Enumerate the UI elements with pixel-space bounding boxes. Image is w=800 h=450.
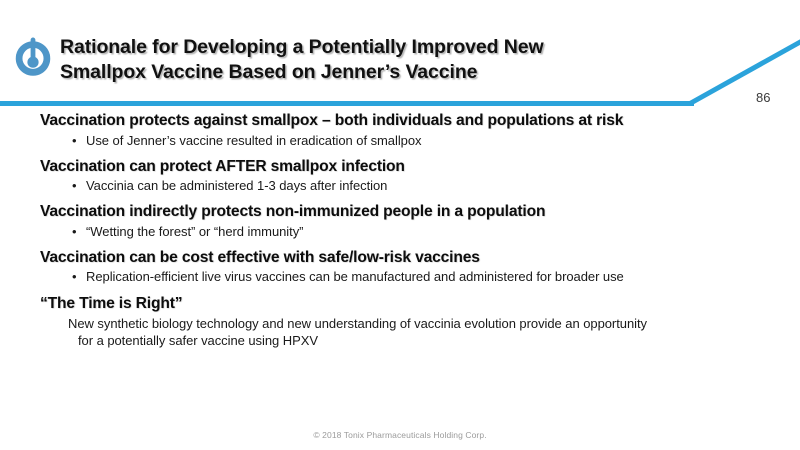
slide-title: Rationale for Developing a Potentially I… bbox=[60, 35, 720, 85]
tonix-power-circle-logo-icon bbox=[9, 32, 57, 84]
bullet-marker-icon: • bbox=[72, 177, 86, 194]
content-section: Vaccination indirectly protects non-immu… bbox=[40, 203, 768, 240]
bullet-item: • Replication-efficient live virus vacci… bbox=[40, 268, 768, 285]
content-section: Vaccination protects against smallpox – … bbox=[40, 112, 768, 149]
bullet-marker-icon: • bbox=[72, 268, 86, 285]
horizontal-accent-rule-icon bbox=[0, 101, 694, 106]
section-heading: Vaccination can be cost effective with s… bbox=[40, 249, 768, 268]
section-paragraph-line-2: for a potentially safer vaccine using HP… bbox=[68, 332, 768, 349]
section-paragraph-line-1: New synthetic biology technology and new… bbox=[68, 316, 647, 331]
bullet-text: Replication-efficient live virus vaccine… bbox=[86, 268, 768, 285]
bullet-marker-icon: • bbox=[72, 223, 86, 240]
page-number: 86 bbox=[756, 90, 770, 105]
section-heading: Vaccination protects against smallpox – … bbox=[40, 112, 768, 131]
content-section: Vaccination can protect AFTER smallpox i… bbox=[40, 158, 768, 195]
angled-accent-line-icon bbox=[660, 30, 800, 110]
bullet-text: Vaccinia can be administered 1-3 days af… bbox=[86, 177, 768, 194]
section-heading: Vaccination can protect AFTER smallpox i… bbox=[40, 158, 768, 177]
content-section: “The Time is Right” New synthetic biolog… bbox=[40, 295, 768, 349]
slide-title-line-2: Smallpox Vaccine Based on Jenner’s Vacci… bbox=[60, 60, 720, 85]
bullet-text: Use of Jenner’s vaccine resulted in erad… bbox=[86, 132, 768, 149]
bullet-item: • Vaccinia can be administered 1-3 days … bbox=[40, 177, 768, 194]
slide-header: Rationale for Developing a Potentially I… bbox=[0, 0, 800, 110]
bullet-item: • Use of Jenner’s vaccine resulted in er… bbox=[40, 132, 768, 149]
bullet-text: “Wetting the forest” or “herd immunity” bbox=[86, 223, 768, 240]
footer-copyright: © 2018 Tonix Pharmaceuticals Holding Cor… bbox=[0, 430, 800, 440]
section-paragraph: New synthetic biology technology and new… bbox=[40, 315, 768, 349]
bullet-marker-icon: • bbox=[72, 132, 86, 149]
slide: Rationale for Developing a Potentially I… bbox=[0, 0, 800, 450]
section-heading: Vaccination indirectly protects non-immu… bbox=[40, 203, 768, 222]
section-heading: “The Time is Right” bbox=[40, 295, 768, 314]
slide-body: Vaccination protects against smallpox – … bbox=[40, 112, 768, 351]
bullet-item: • “Wetting the forest” or “herd immunity… bbox=[40, 223, 768, 240]
slide-title-line-1: Rationale for Developing a Potentially I… bbox=[60, 35, 720, 60]
content-section: Vaccination can be cost effective with s… bbox=[40, 249, 768, 286]
